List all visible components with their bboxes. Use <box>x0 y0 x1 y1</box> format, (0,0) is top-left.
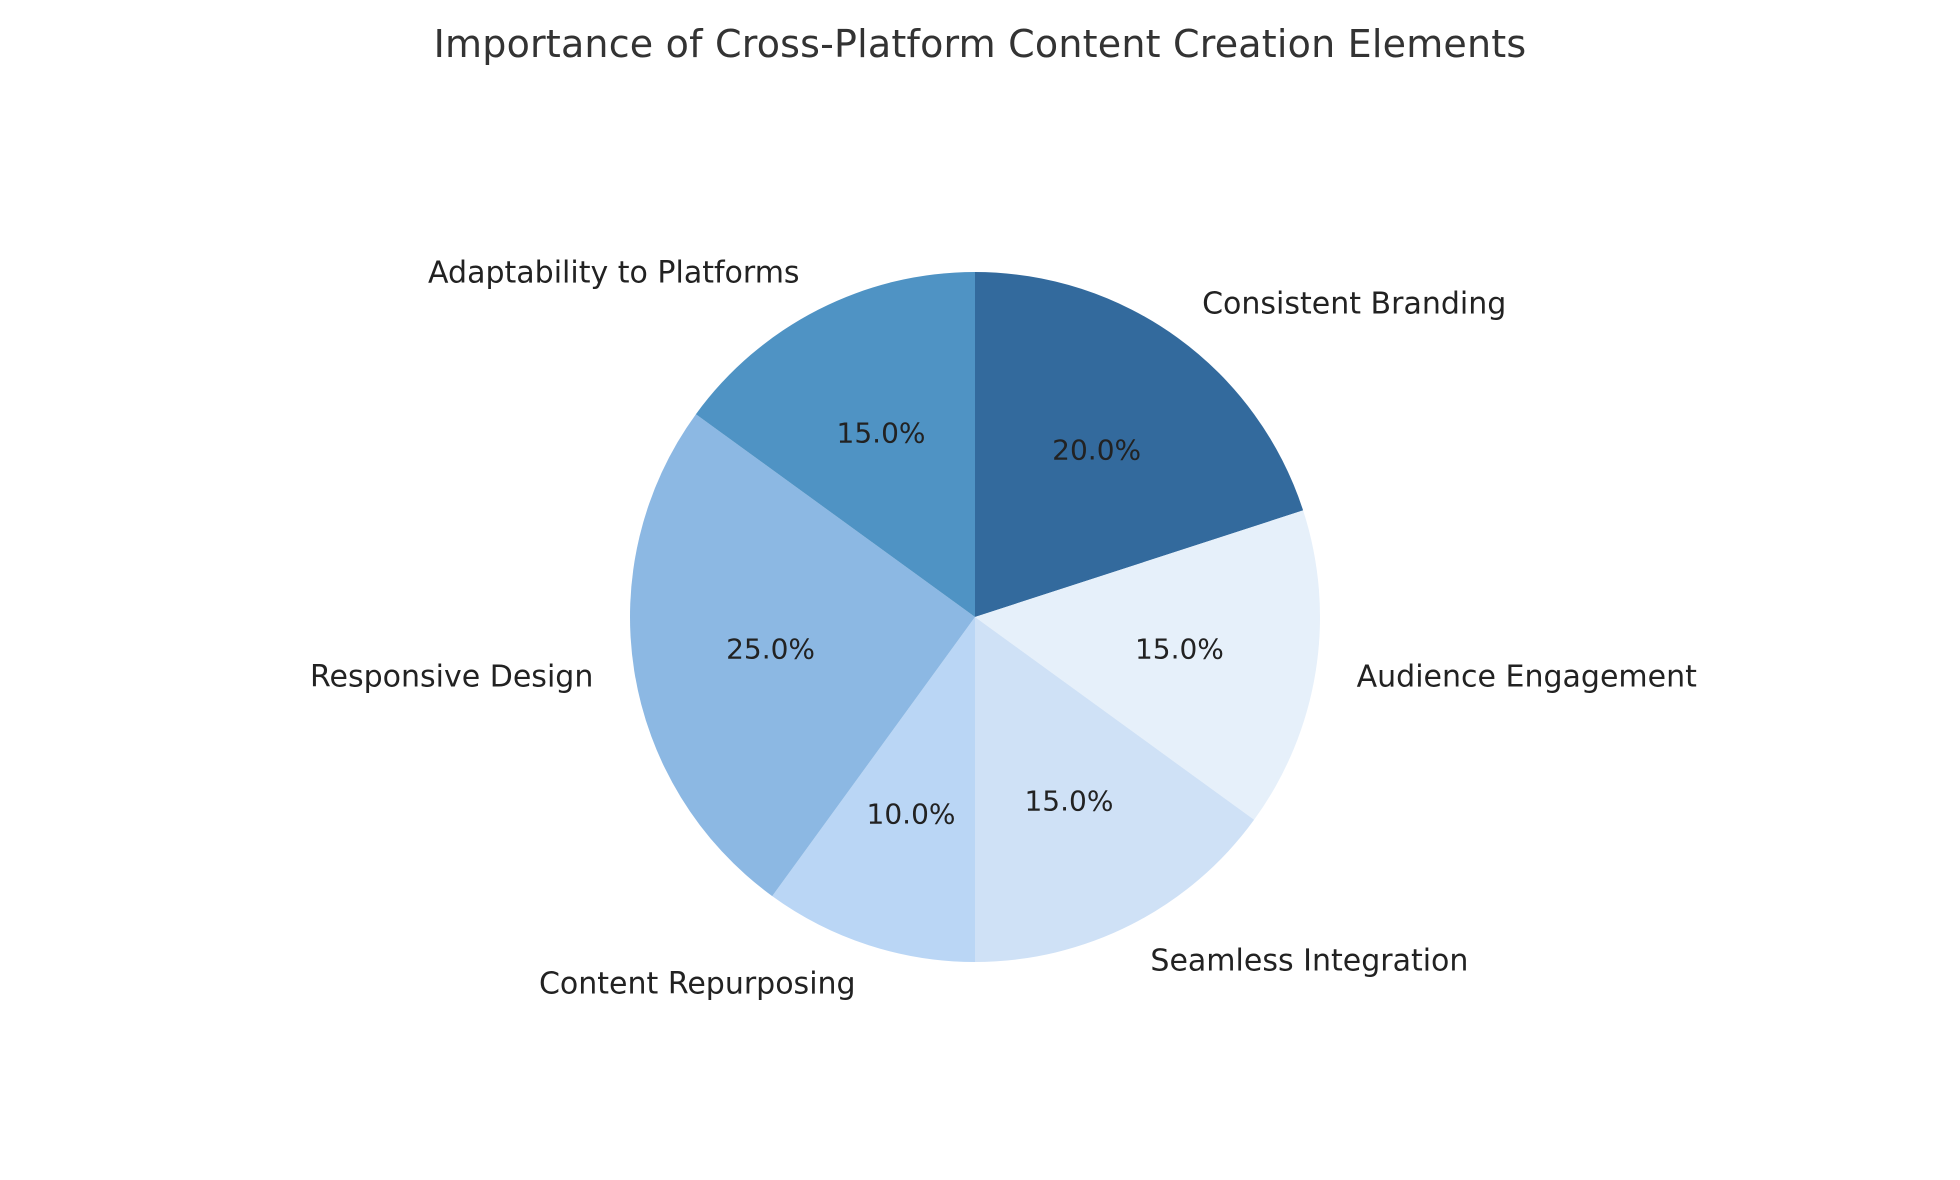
pie-category-label: Responsive Design <box>310 660 593 695</box>
figure-canvas: Importance of Cross-Platform Content Cre… <box>0 0 1960 1180</box>
pie-percent-label: 15.0% <box>837 416 926 449</box>
pie-category-label: Consistent Branding <box>1202 287 1506 322</box>
pie-percent-label: 10.0% <box>867 797 956 830</box>
pie-category-label: Content Repurposing <box>539 967 856 1002</box>
pie-percent-label: 15.0% <box>1024 785 1113 818</box>
pie-chart <box>0 0 1960 1180</box>
pie-category-label: Seamless Integration <box>1150 944 1468 979</box>
pie-percent-label: 20.0% <box>1052 433 1141 466</box>
pie-category-label: Adaptability to Platforms <box>428 255 800 290</box>
pie-percent-label: 25.0% <box>726 633 815 666</box>
pie-percent-label: 15.0% <box>1135 633 1224 666</box>
pie-slice-group <box>630 272 1320 962</box>
pie-category-label: Audience Engagement <box>1357 660 1697 695</box>
